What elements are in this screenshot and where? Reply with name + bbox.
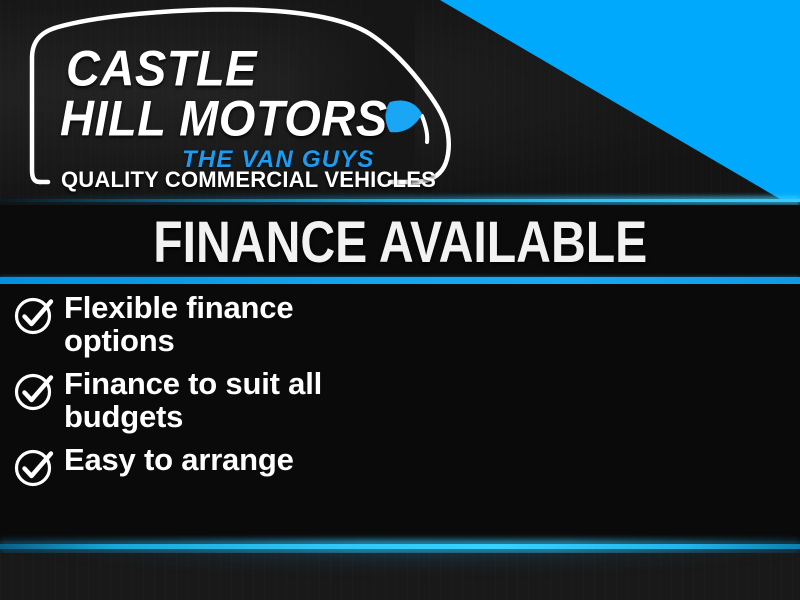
list-item-label: Flexible finance options	[64, 291, 394, 358]
logo-line-hill-motors: HILL MOTORS	[60, 94, 430, 143]
brand-logo: CASTLE HILL MOTORS THE VAN GUYS	[60, 44, 430, 174]
check-circle-icon	[13, 446, 55, 488]
brand-subtitle: QUALITY COMMERCIAL VEHICLES	[61, 167, 436, 193]
footer-section	[0, 553, 800, 600]
headline-band: FINANCE AVAILABLE	[0, 205, 800, 277]
check-circle-icon	[13, 294, 55, 336]
list-item: Finance to suit all budgets	[0, 367, 460, 434]
body-section: Flexible finance options Finance to suit…	[0, 284, 800, 541]
divider-middle	[0, 277, 800, 284]
list-item-label: Easy to arrange	[64, 443, 294, 476]
header-section: CASTLE HILL MOTORS THE VAN GUYS QUALITY …	[0, 0, 800, 200]
finance-advert-banner: CASTLE HILL MOTORS THE VAN GUYS QUALITY …	[0, 0, 800, 600]
benefits-list: Flexible finance options Finance to suit…	[0, 284, 460, 541]
list-item-label: Finance to suit all budgets	[64, 367, 394, 434]
divider-bottom-core	[0, 544, 800, 549]
divider-top	[0, 196, 800, 205]
logo-line-castle: CASTLE	[60, 44, 430, 93]
check-circle-icon	[13, 370, 55, 412]
blue-diagonal-wedge	[400, 0, 800, 200]
page-title: FINANCE AVAILABLE	[153, 207, 647, 275]
divider-bottom	[0, 541, 800, 553]
list-item: Flexible finance options	[0, 291, 460, 358]
list-item: Easy to arrange	[0, 443, 460, 488]
divider-top-core	[0, 199, 800, 202]
footer-texture	[0, 553, 800, 600]
